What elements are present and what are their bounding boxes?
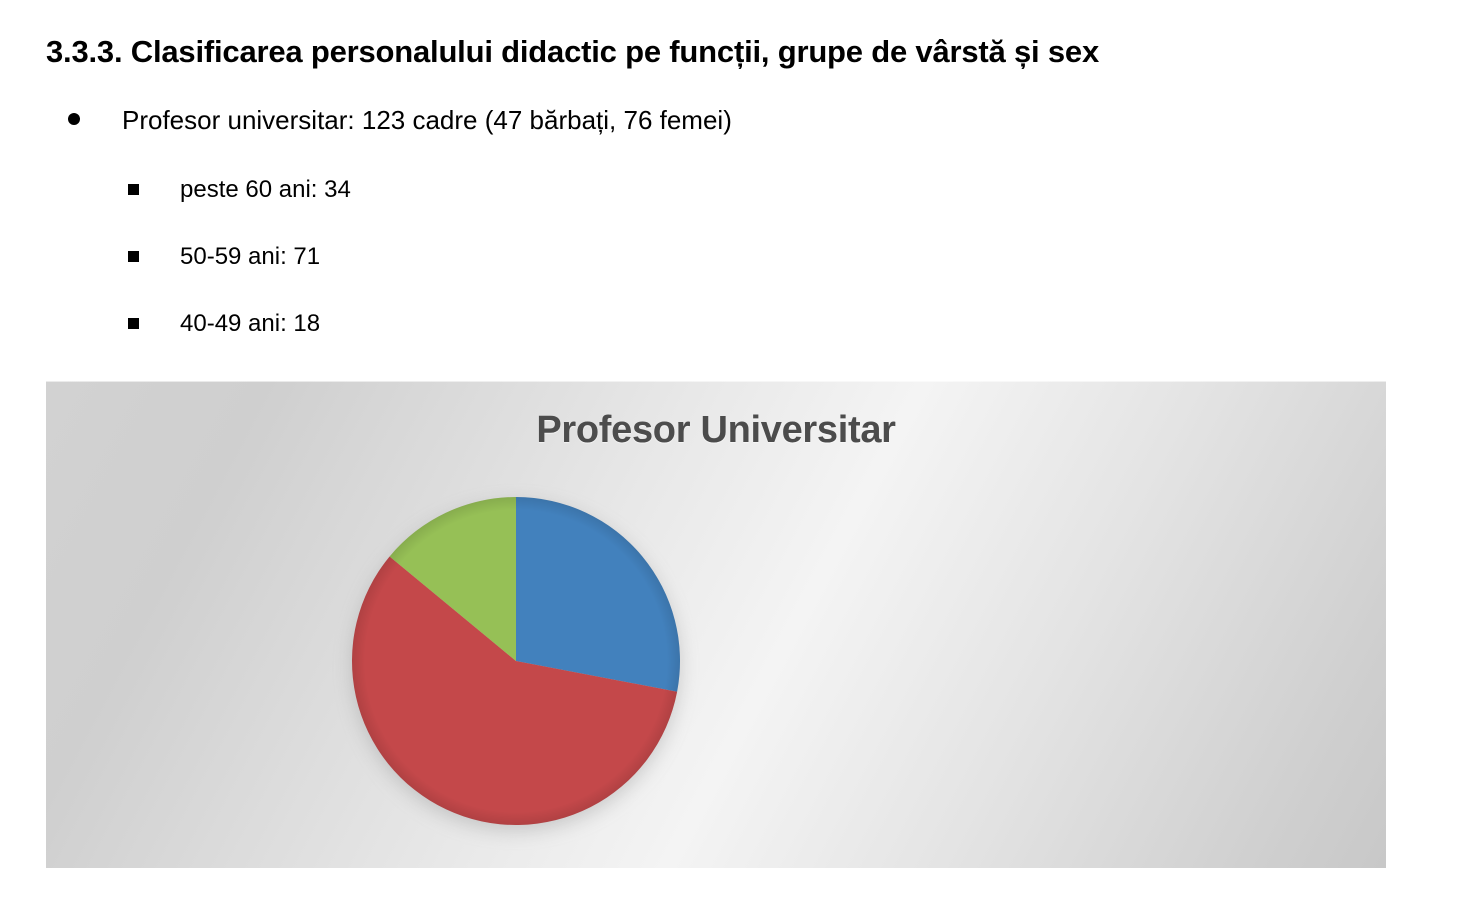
square-bullet-icon bbox=[128, 251, 139, 262]
list-item-label: 40-49 ani: 18 bbox=[180, 310, 320, 337]
list-item-label: peste 60 ani: 34 bbox=[180, 176, 351, 203]
page-title: 3.3.3. Clasificarea personalului didacti… bbox=[46, 34, 1099, 70]
square-bullet-icon bbox=[128, 318, 139, 329]
list-item-label: 50-59 ani: 71 bbox=[180, 243, 320, 270]
list-item: 50-59 ani: 71 bbox=[0, 240, 1000, 274]
list-item-label: Profesor universitar: 123 cadre (47 bărb… bbox=[122, 105, 732, 135]
pie-slices bbox=[346, 491, 686, 831]
disc-bullet-icon bbox=[68, 113, 80, 125]
list-item: Profesor universitar: 123 cadre (47 bărb… bbox=[0, 100, 1000, 140]
list-item: peste 60 ani: 34 bbox=[0, 173, 1000, 207]
pie-graphic bbox=[346, 491, 686, 831]
square-bullet-icon bbox=[128, 184, 139, 195]
chart-title: Profesor Universitar bbox=[46, 409, 1386, 452]
bullet-list: Profesor universitar: 123 cadre (47 bărb… bbox=[0, 100, 1000, 341]
pie-chart-container: Profesor Universitar 14% 0% 28% 58% bbox=[46, 381, 1386, 868]
list-item: 40-49 ani: 18 bbox=[0, 307, 1000, 341]
